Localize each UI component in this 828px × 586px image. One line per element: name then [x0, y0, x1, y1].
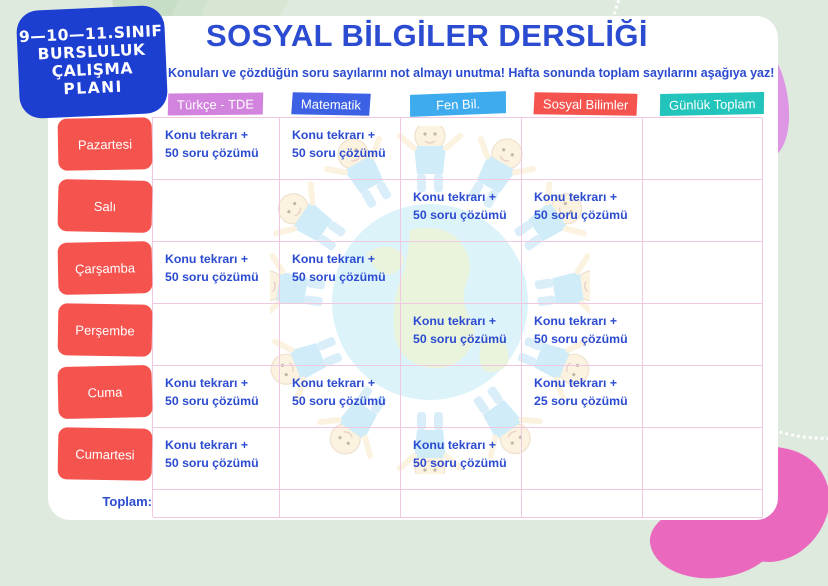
table-cell-total[interactable]	[522, 490, 643, 518]
study-plan-grid: Konu tekrarı +50 soru çözümü Konu tekrar…	[152, 117, 762, 517]
table-cell[interactable]: Konu tekrarı +50 soru çözümü	[401, 428, 522, 490]
day-labels-column: Pazartesi Salı Çarşamba Perşembe Cuma Cu…	[58, 118, 154, 490]
table-cell[interactable]	[153, 180, 280, 242]
day-chip-cuma[interactable]: Cuma	[57, 365, 152, 419]
day-chip-pazartesi[interactable]: Pazartesi	[58, 117, 153, 171]
table-cell[interactable]: Konu tekrarı +50 soru çözümü	[280, 366, 401, 428]
column-header-turkce[interactable]: Türkçe - TDE	[168, 92, 264, 115]
column-header-sosyal[interactable]: Sosyal Bilimler	[533, 92, 637, 115]
table-cell[interactable]	[280, 428, 401, 490]
column-header-turkce-label: Türkçe - TDE	[177, 96, 254, 112]
column-header-sosyal-label: Sosyal Bilimler	[543, 96, 628, 112]
column-header-gunluk-toplam[interactable]: Günlük Toplam	[660, 92, 765, 116]
table-cell[interactable]	[643, 366, 763, 428]
table-cell[interactable]: Konu tekrarı +50 soru çözümü	[153, 118, 280, 180]
table-cell[interactable]	[401, 118, 522, 180]
table-cell-total[interactable]	[643, 490, 763, 518]
table-cell[interactable]: Konu tekrarı +50 soru çözümü	[522, 180, 643, 242]
table-cell[interactable]	[522, 118, 643, 180]
table-cell[interactable]	[643, 180, 763, 242]
table-cell[interactable]: Konu tekrarı +50 soru çözümü	[153, 366, 280, 428]
table-cell[interactable]	[280, 180, 401, 242]
table-cell[interactable]	[643, 428, 763, 490]
table-cell[interactable]	[522, 428, 643, 490]
page-title: SOSYAL BİLGİLER DERSLİĞİ	[206, 18, 626, 54]
table-cell[interactable]: Konu tekrarı +25 soru çözümü	[522, 366, 643, 428]
day-chip-persembe[interactable]: Perşembe	[58, 303, 153, 356]
table-cell[interactable]: Konu tekrarı +50 soru çözümü	[280, 118, 401, 180]
table-cell[interactable]	[643, 242, 763, 304]
total-row-label: Toplam:	[58, 494, 152, 509]
column-header-gunluk-toplam-label: Günlük Toplam	[669, 96, 756, 113]
table-cell-total[interactable]	[153, 490, 280, 518]
day-chip-carsamba[interactable]: Çarşamba	[58, 241, 153, 295]
column-header-row: Türkçe - TDE Matematik Fen Bil. Sosyal B…	[152, 93, 772, 119]
table-cell[interactable]: Konu tekrarı +50 soru çözümü	[401, 180, 522, 242]
table-cell[interactable]	[643, 118, 763, 180]
table-cell-total[interactable]	[401, 490, 522, 518]
table-cell[interactable]: Konu tekrarı +50 soru çözümü	[401, 304, 522, 366]
table-cell-total[interactable]	[280, 490, 401, 518]
column-header-matematik[interactable]: Matematik	[291, 92, 371, 115]
column-header-fen[interactable]: Fen Bil.	[410, 91, 506, 117]
table-cell[interactable]	[643, 304, 763, 366]
table-cell[interactable]	[280, 304, 401, 366]
day-chip-sali[interactable]: Salı	[57, 179, 152, 233]
column-header-fen-label: Fen Bil.	[436, 96, 481, 113]
table-cell[interactable]	[401, 242, 522, 304]
table-cell[interactable]	[153, 304, 280, 366]
table-cell[interactable]	[522, 242, 643, 304]
logo-line-4: PLANI	[63, 79, 123, 100]
day-chip-cumartesi[interactable]: Cumartesi	[58, 427, 153, 481]
column-header-matematik-label: Matematik	[301, 96, 362, 112]
page-subtitle: Konuları ve çözdüğün soru sayılarını not…	[168, 66, 774, 80]
table-cell[interactable]: Konu tekrarı +50 soru çözümü	[153, 428, 280, 490]
table-cell[interactable]: Konu tekrarı +50 soru çözümü	[280, 242, 401, 304]
bursluluk-plan-logo-badge: 9—10—11.SINIF BURSLULUK ÇALIŞMA PLANI	[16, 5, 169, 119]
table-cell[interactable]: Konu tekrarı +50 soru çözümü	[153, 242, 280, 304]
table-cell[interactable]	[401, 366, 522, 428]
table-cell[interactable]: Konu tekrarı +50 soru çözümü	[522, 304, 643, 366]
